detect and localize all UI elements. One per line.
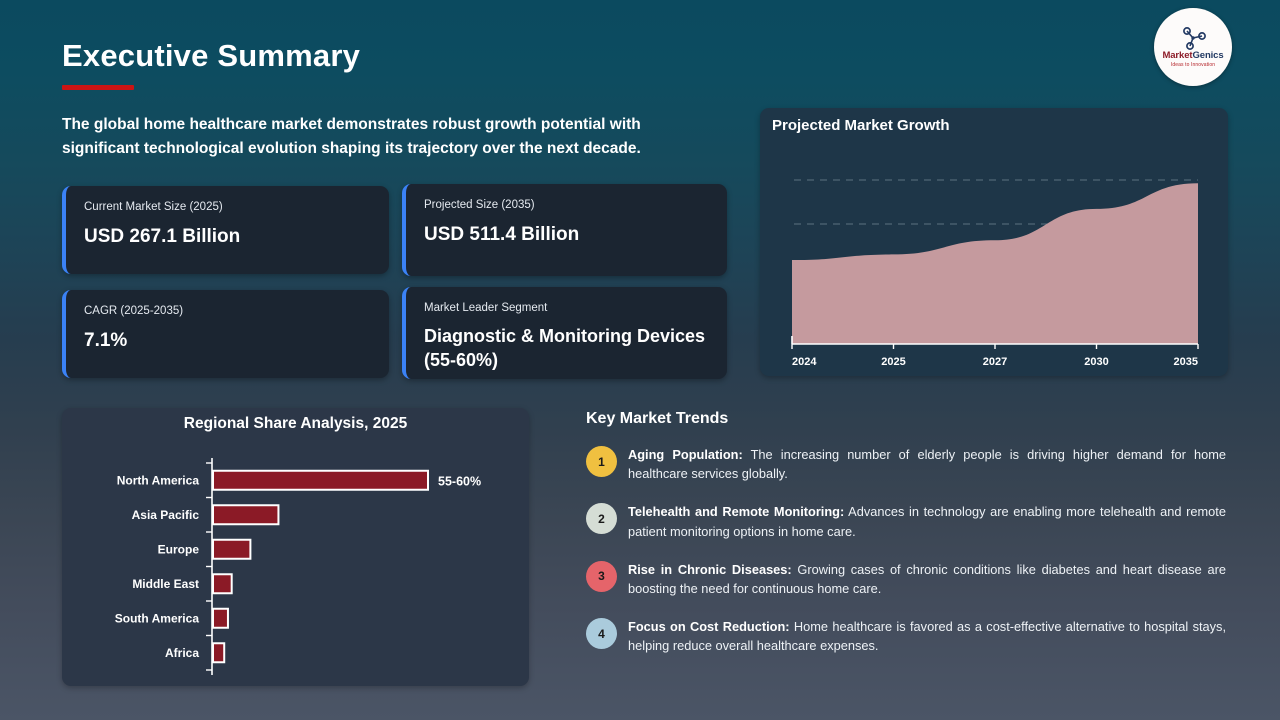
key-market-trends-section: Key Market Trends 1 Aging Population: Th…	[586, 410, 1226, 675]
bar-category-label: Europe	[158, 542, 200, 556]
kpi-label: Current Market Size (2025)	[84, 200, 371, 215]
intro-paragraph: The global home healthcare market demons…	[62, 113, 702, 160]
bar-category-label: South America	[115, 611, 200, 625]
title-underline-accent	[62, 85, 134, 90]
logo-tagline: Ideas to Innovation	[1171, 62, 1215, 68]
bar-rect	[213, 505, 278, 524]
bar-category-label: Middle East	[132, 577, 199, 591]
network-nodes-icon	[1178, 26, 1208, 50]
logo-name-genics: Genics	[1192, 50, 1223, 61]
kpi-label: Market Leader Segment	[424, 301, 709, 316]
bar-rect	[213, 574, 232, 593]
bar-rect	[213, 609, 228, 628]
growth-x-tick-label: 2035	[1174, 356, 1198, 368]
logo-name-market: Market	[1162, 50, 1192, 61]
trend-item: 4 Focus on Cost Reduction: Home healthca…	[586, 617, 1226, 655]
kpi-card-current-market-size: Current Market Size (2025) USD 267.1 Bil…	[62, 186, 389, 274]
kpi-card-projected-size: Projected Size (2035) USD 511.4 Billion	[402, 184, 727, 276]
trend-item: 1 Aging Population: The increasing numbe…	[586, 445, 1226, 483]
growth-x-tick-label: 2027	[983, 356, 1007, 368]
trend-item: 2 Telehealth and Remote Monitoring: Adva…	[586, 502, 1226, 540]
bar-rect	[213, 471, 428, 490]
trend-text: Telehealth and Remote Monitoring: Advanc…	[628, 502, 1226, 540]
trend-heading: Telehealth and Remote Monitoring:	[628, 504, 844, 519]
bar-category-label: Asia Pacific	[132, 508, 200, 522]
brand-logo: MarketGenics Ideas to Innovation	[1154, 8, 1232, 86]
trend-heading: Rise in Chronic Diseases:	[628, 562, 792, 577]
trend-number-badge: 3	[586, 561, 617, 592]
trend-text: Aging Population: The increasing number …	[628, 445, 1226, 483]
trend-number-badge: 2	[586, 503, 617, 534]
kpi-label: Projected Size (2035)	[424, 198, 709, 213]
page-title: Executive Summary	[62, 38, 360, 74]
kpi-value: 7.1%	[84, 328, 371, 353]
kpi-card-market-leader-segment: Market Leader Segment Diagnostic & Monit…	[402, 287, 727, 379]
bar-value-annotation: 55-60%	[438, 474, 481, 488]
trend-text: Focus on Cost Reduction: Home healthcare…	[628, 617, 1226, 655]
trend-text: Rise in Chronic Diseases: Growing cases …	[628, 560, 1226, 598]
trend-number-badge: 1	[586, 446, 617, 477]
bar-rect	[213, 540, 250, 559]
kpi-value: USD 511.4 Billion	[424, 222, 709, 247]
logo-wordmark: MarketGenics	[1162, 51, 1223, 61]
regional-bar-chart: North America55-60%Asia PacificEuropeMid…	[62, 408, 529, 686]
kpi-card-cagr: CAGR (2025-2035) 7.1%	[62, 290, 389, 378]
kpi-label: CAGR (2025-2035)	[84, 304, 371, 319]
projected-market-growth-panel: Projected Market Growth 2024202520272030…	[760, 108, 1228, 376]
kpi-value: Diagnostic & Monitoring Devices (55-60%)	[424, 325, 709, 373]
trend-heading: Aging Population:	[628, 447, 743, 462]
trend-heading: Focus on Cost Reduction:	[628, 619, 790, 634]
bar-category-label: Africa	[165, 646, 199, 660]
growth-x-tick-label: 2024	[792, 356, 817, 368]
growth-x-tick-label: 2030	[1084, 356, 1108, 368]
bar-rect	[213, 643, 224, 662]
trend-item: 3 Rise in Chronic Diseases: Growing case…	[586, 560, 1226, 598]
regional-share-analysis-panel: Regional Share Analysis, 2025 North Amer…	[62, 408, 529, 686]
growth-x-tick-label: 2025	[881, 356, 905, 368]
growth-area-chart: 20242025202720302035	[760, 108, 1228, 376]
trend-number-badge: 4	[586, 618, 617, 649]
kpi-value: USD 267.1 Billion	[84, 224, 371, 249]
trends-section-title: Key Market Trends	[586, 410, 1226, 428]
bar-category-label: North America	[117, 473, 200, 487]
